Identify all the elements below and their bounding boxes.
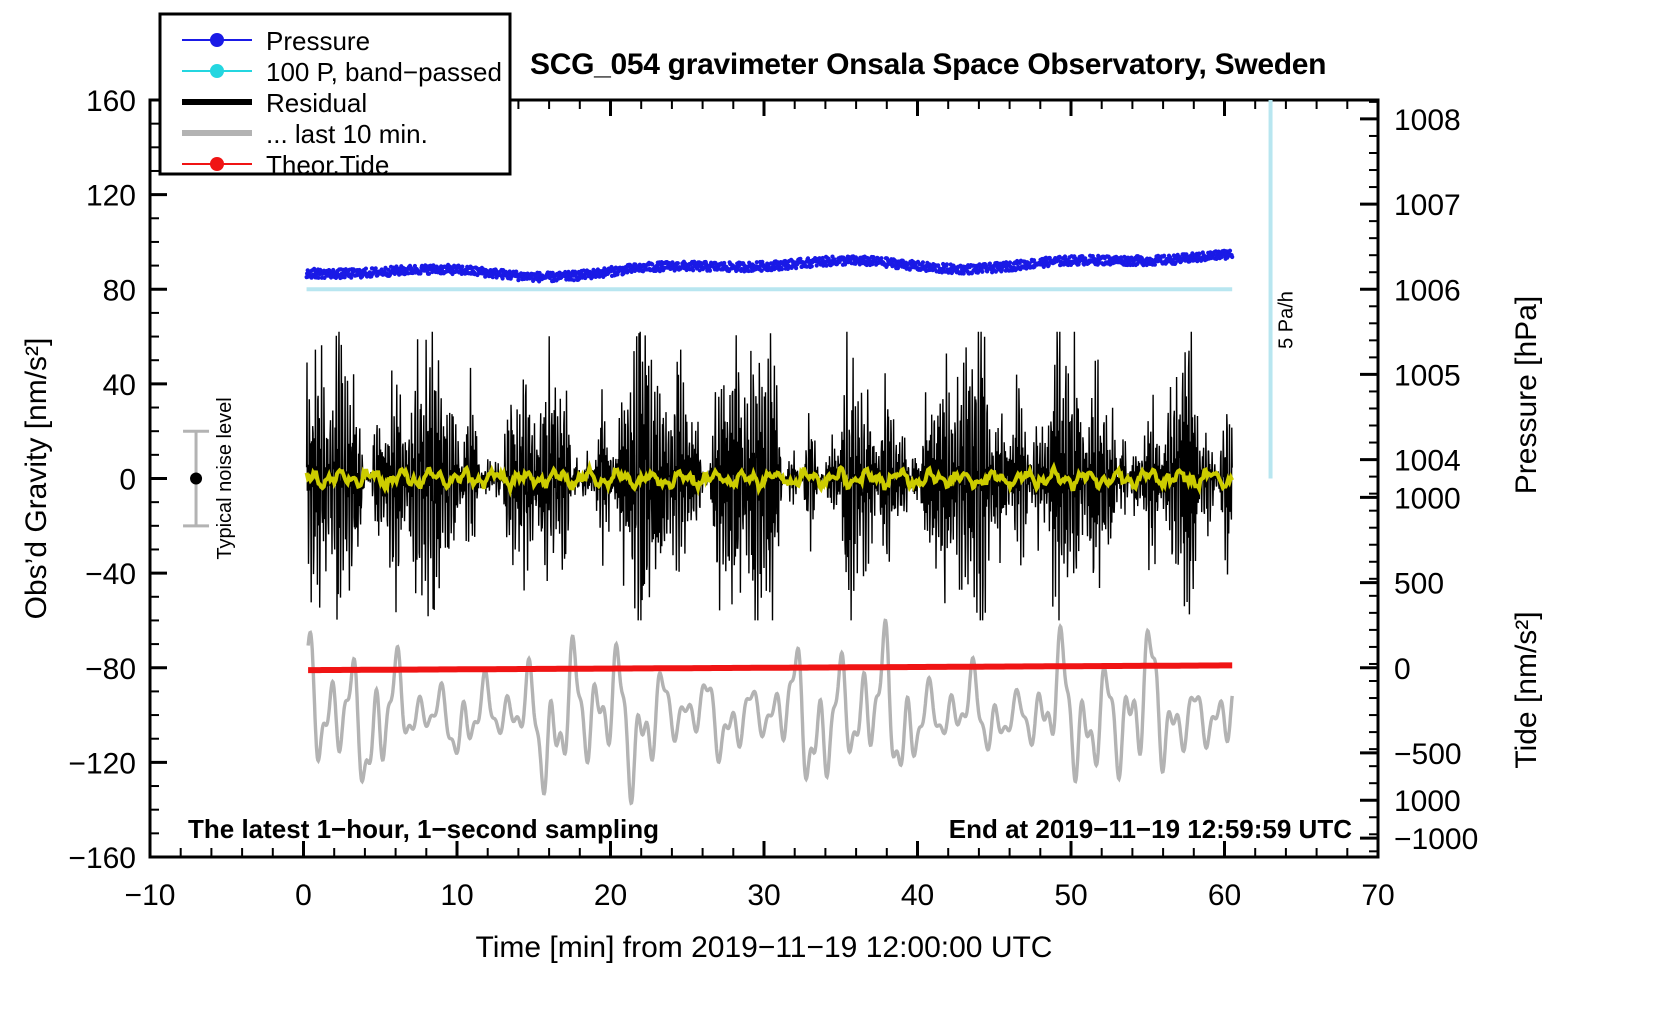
legend-marker-0 — [210, 33, 224, 47]
pressure-dot — [1230, 255, 1234, 259]
y-left-tick-label: −40 — [85, 558, 136, 591]
y-right-bottom-tick-label: 0 — [1394, 653, 1411, 686]
pressure-dot — [794, 266, 798, 270]
legend-label-4: Theor.Tide — [266, 150, 389, 180]
y-left-tick-label: 40 — [103, 369, 136, 402]
pressure-dot — [921, 260, 925, 264]
pressure-dot — [879, 256, 883, 260]
y-left-tick-label: 0 — [119, 464, 136, 497]
y-left-tick-label: −160 — [68, 842, 136, 875]
series-last10min — [308, 621, 1232, 804]
y-left-tick-label: 120 — [86, 180, 136, 213]
pressure-dot — [708, 269, 712, 273]
x-tick-label: 50 — [1054, 879, 1087, 912]
y-right-top-axis-label: Pressure [hPa] — [1510, 296, 1543, 494]
pressure-dot — [1153, 263, 1157, 267]
pressure-dot — [349, 276, 353, 280]
noise-level-dot — [190, 473, 202, 485]
pressure-dot — [810, 264, 814, 268]
pressure-dot — [945, 262, 949, 266]
x-tick-label: 10 — [440, 879, 473, 912]
y-right-top-tick-label: 1007 — [1394, 189, 1461, 222]
pressure-dot — [1162, 254, 1166, 258]
gravimeter-plot: −10010203040506070Time [min] from 2019−1… — [0, 0, 1660, 1020]
pressure-dot — [676, 261, 680, 265]
page-title: SCG_054 gravimeter Onsala Space Observat… — [530, 48, 1326, 82]
rate-marker-label: 5 Pa/h — [1276, 291, 1298, 349]
y-left-tick-label: 80 — [103, 274, 136, 307]
y-left-tick-label: −120 — [68, 747, 136, 780]
y-left-tick-label: 160 — [86, 85, 136, 118]
y-right-bottom-tick-label: 1000 — [1394, 482, 1461, 515]
pressure-dot — [691, 268, 695, 272]
y-left-axis-label: Obs’d Gravity [nm/s²] — [20, 338, 53, 620]
x-tick-label: 40 — [901, 879, 934, 912]
plot-root: −10010203040506070Time [min] from 2019−1… — [0, 0, 1660, 1020]
annotation-bottom-right: End at 2019−11−19 12:59:59 UTC — [949, 814, 1352, 844]
pressure-dot — [460, 265, 464, 269]
y-right-top-tick-label: 1000 — [1394, 785, 1461, 818]
pressure-dot — [980, 270, 984, 274]
pressure-dot — [1228, 249, 1232, 253]
pressure-dot — [1008, 260, 1012, 264]
y-left-tick-label: −80 — [85, 653, 136, 686]
x-tick-label: 20 — [594, 879, 627, 912]
y-right-bottom-tick-label: 500 — [1394, 568, 1444, 601]
legend-label-3: ... last 10 min. — [266, 119, 428, 149]
x-tick-label: 70 — [1361, 879, 1394, 912]
x-tick-label: 0 — [295, 879, 312, 912]
y-right-top-tick-label: 1004 — [1394, 445, 1461, 478]
noise-level-label: Typical noise level — [214, 397, 236, 559]
y-right-top-tick-label: 1005 — [1394, 359, 1461, 392]
legend-label-2: Residual — [266, 88, 367, 118]
x-tick-label: 60 — [1208, 879, 1241, 912]
y-right-bottom-axis-label: Tide [nm/s²] — [1510, 611, 1543, 768]
legend-marker-4 — [210, 157, 224, 171]
annotation-bottom-left: The latest 1−hour, 1−second sampling — [188, 814, 659, 844]
pressure-dot — [780, 267, 784, 271]
legend-label-0: Pressure — [266, 26, 370, 56]
legend-label-1: 100 P, band−passed — [266, 57, 502, 87]
x-tick-label: −10 — [125, 879, 176, 912]
x-axis-label: Time [min] from 2019−11−19 12:00:00 UTC — [476, 931, 1053, 964]
pressure-dot — [516, 278, 520, 282]
pressure-dot — [364, 267, 368, 271]
pressure-dot — [374, 266, 378, 270]
legend-marker-1 — [210, 64, 224, 78]
series-theor-tide — [308, 665, 1232, 670]
y-right-bottom-tick-label: −1000 — [1394, 823, 1478, 856]
x-tick-label: 30 — [747, 879, 780, 912]
y-right-bottom-tick-label: −500 — [1394, 738, 1462, 771]
y-right-top-tick-label: 1006 — [1394, 274, 1461, 307]
y-right-top-tick-label: 1008 — [1394, 104, 1461, 137]
